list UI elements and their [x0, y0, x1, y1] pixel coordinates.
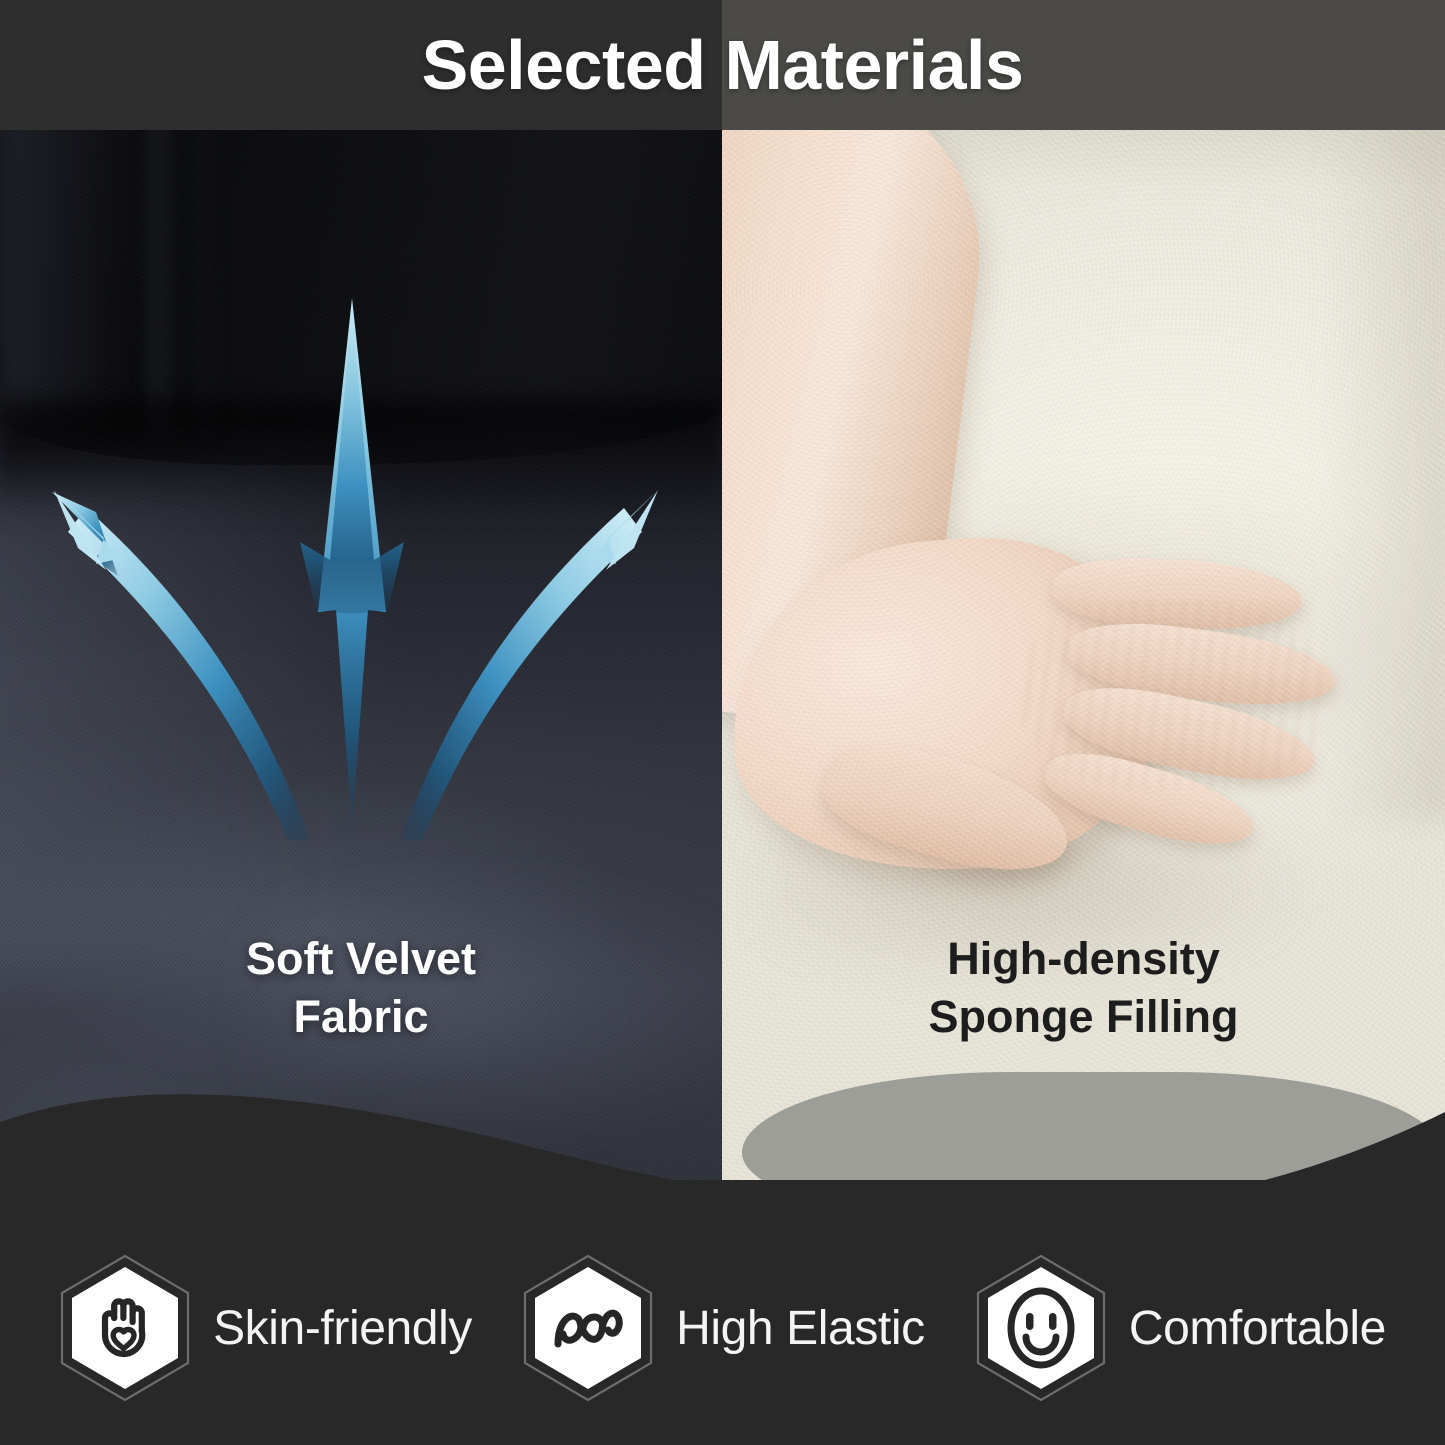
- label-line-1: Soft Velvet: [0, 930, 722, 988]
- feature-comfortable[interactable]: Comfortable: [975, 1254, 1386, 1402]
- feature-badges: Skin-friendly: [0, 1238, 1445, 1418]
- product-infographic: Soft Velvet Fabric High-density Sponge F…: [0, 0, 1445, 1445]
- badge-hexagon: [59, 1254, 191, 1402]
- badge-hexagon: [522, 1254, 654, 1402]
- header-bar: Selected Materials: [0, 0, 1445, 130]
- label-sponge-filling: High-density Sponge Filling: [722, 930, 1445, 1045]
- hand-heart-icon: [59, 1254, 191, 1402]
- feature-high-elastic[interactable]: High Elastic: [522, 1254, 925, 1402]
- feature-label: Comfortable: [1129, 1301, 1386, 1356]
- arrow-left: [52, 490, 310, 840]
- label-line-2: Sponge Filling: [722, 988, 1445, 1046]
- breathability-arrows-graphic: [0, 140, 722, 840]
- smiley-face-icon: [975, 1254, 1107, 1402]
- badge-hexagon: [975, 1254, 1107, 1402]
- label-soft-velvet: Soft Velvet Fabric: [0, 930, 722, 1045]
- page-title: Selected Materials: [0, 0, 1445, 130]
- label-line-1: High-density: [722, 930, 1445, 988]
- feature-skin-friendly[interactable]: Skin-friendly: [59, 1254, 472, 1402]
- arrow-right: [400, 490, 658, 840]
- label-line-2: Fabric: [0, 988, 722, 1046]
- feature-label: High Elastic: [676, 1301, 925, 1356]
- feature-label: Skin-friendly: [213, 1301, 472, 1356]
- arrow-center: [300, 298, 404, 830]
- spring-coil-icon: [522, 1254, 654, 1402]
